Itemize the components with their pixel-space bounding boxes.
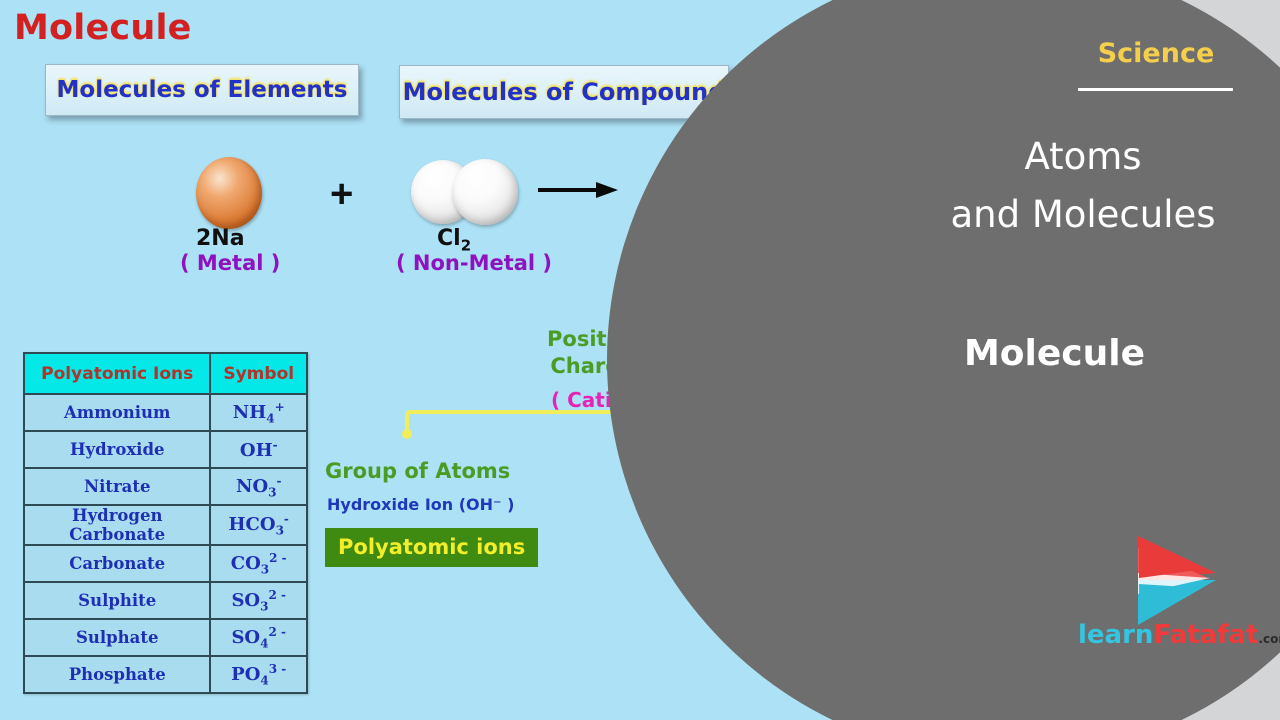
chlorine-atom-sphere xyxy=(452,159,518,225)
table-cell-ion-symbol: SO32 - xyxy=(210,582,307,619)
table-row: NitrateNO3- xyxy=(24,468,307,505)
page-title: Molecule xyxy=(14,8,192,48)
learnfatafat-logo-icon xyxy=(1098,528,1248,633)
polyatomic-ions-badge-label: Polyatomic ions xyxy=(338,535,525,559)
table-row: AmmoniumNH4+ xyxy=(24,394,307,431)
table-row: SulphiteSO32 - xyxy=(24,582,307,619)
learnfatafat-wordmark: learnFatafat.comTM xyxy=(1078,620,1278,650)
brand-subject-label: Science xyxy=(1000,38,1280,69)
table-cell-ion-name: Carbonate xyxy=(24,545,210,582)
table-column-header-name: Polyatomic Ions xyxy=(24,353,210,394)
logo-text-learn: learn xyxy=(1078,620,1153,650)
slide-canvas: Molecule Molecules of Elements Molecules… xyxy=(0,0,1280,720)
table-cell-ion-symbol: PO43 - xyxy=(210,656,307,693)
table-cell-ion-symbol: OH- xyxy=(210,431,307,468)
brand-divider xyxy=(1078,88,1233,91)
brand-topic-title: Atomsand Molecules xyxy=(938,128,1228,244)
table-row: PhosphatePO43 - xyxy=(24,656,307,693)
reactant-1-formula: 2Na xyxy=(196,226,245,251)
heading-box-label: Molecules of Compound xyxy=(403,78,726,106)
reactant-2-formula-base: Cl xyxy=(437,226,461,251)
table-row: Hydrogen CarbonateHCO3- xyxy=(24,505,307,545)
table-row: CarbonateCO32 - xyxy=(24,545,307,582)
polyatomic-ions-table: Polyatomic Ions Symbol AmmoniumNH4+Hydro… xyxy=(23,352,308,694)
reactant-1-kind: ( Metal ) xyxy=(180,251,280,275)
reactant-2-kind: ( Non-Metal ) xyxy=(396,251,552,275)
table-row: HydroxideOH- xyxy=(24,431,307,468)
table-cell-ion-name: Phosphate xyxy=(24,656,210,693)
table-cell-ion-name: Hydrogen Carbonate xyxy=(24,505,210,545)
brand-subtopic-title: Molecule xyxy=(912,333,1197,374)
heading-box-molecules-of-compound: Molecules of Compound xyxy=(399,65,729,119)
table-cell-ion-name: Sulphate xyxy=(24,619,210,656)
table-column-header-symbol: Symbol xyxy=(210,353,307,394)
group-of-atoms-example: Hydroxide Ion (OH⁻ ) xyxy=(327,495,514,514)
sodium-atom-sphere xyxy=(196,157,262,229)
reaction-arrow-icon xyxy=(538,180,618,200)
table-row: SulphateSO42 - xyxy=(24,619,307,656)
table-cell-ion-name: Nitrate xyxy=(24,468,210,505)
table-cell-ion-symbol: CO32 - xyxy=(210,545,307,582)
table-cell-ion-symbol: NO3- xyxy=(210,468,307,505)
table-cell-ion-name: Hydroxide xyxy=(24,431,210,468)
table-cell-ion-name: Sulphite xyxy=(24,582,210,619)
polyatomic-ions-badge: Polyatomic ions xyxy=(325,528,538,567)
plus-operator: + xyxy=(330,172,353,217)
heading-box-molecules-of-elements: Molecules of Elements xyxy=(45,64,359,116)
table-cell-ion-symbol: HCO3- xyxy=(210,505,307,545)
table-cell-ion-symbol: SO42 - xyxy=(210,619,307,656)
table-header-row: Polyatomic Ions Symbol xyxy=(24,353,307,394)
logo-text-dotcom: .com xyxy=(1258,632,1280,646)
group-of-atoms-title: Group of Atoms xyxy=(325,459,510,483)
table-cell-ion-symbol: NH4+ xyxy=(210,394,307,431)
logo-text-fatafat: Fatafat xyxy=(1153,620,1258,650)
table-cell-ion-name: Ammonium xyxy=(24,394,210,431)
heading-box-label: Molecules of Elements xyxy=(57,77,348,103)
